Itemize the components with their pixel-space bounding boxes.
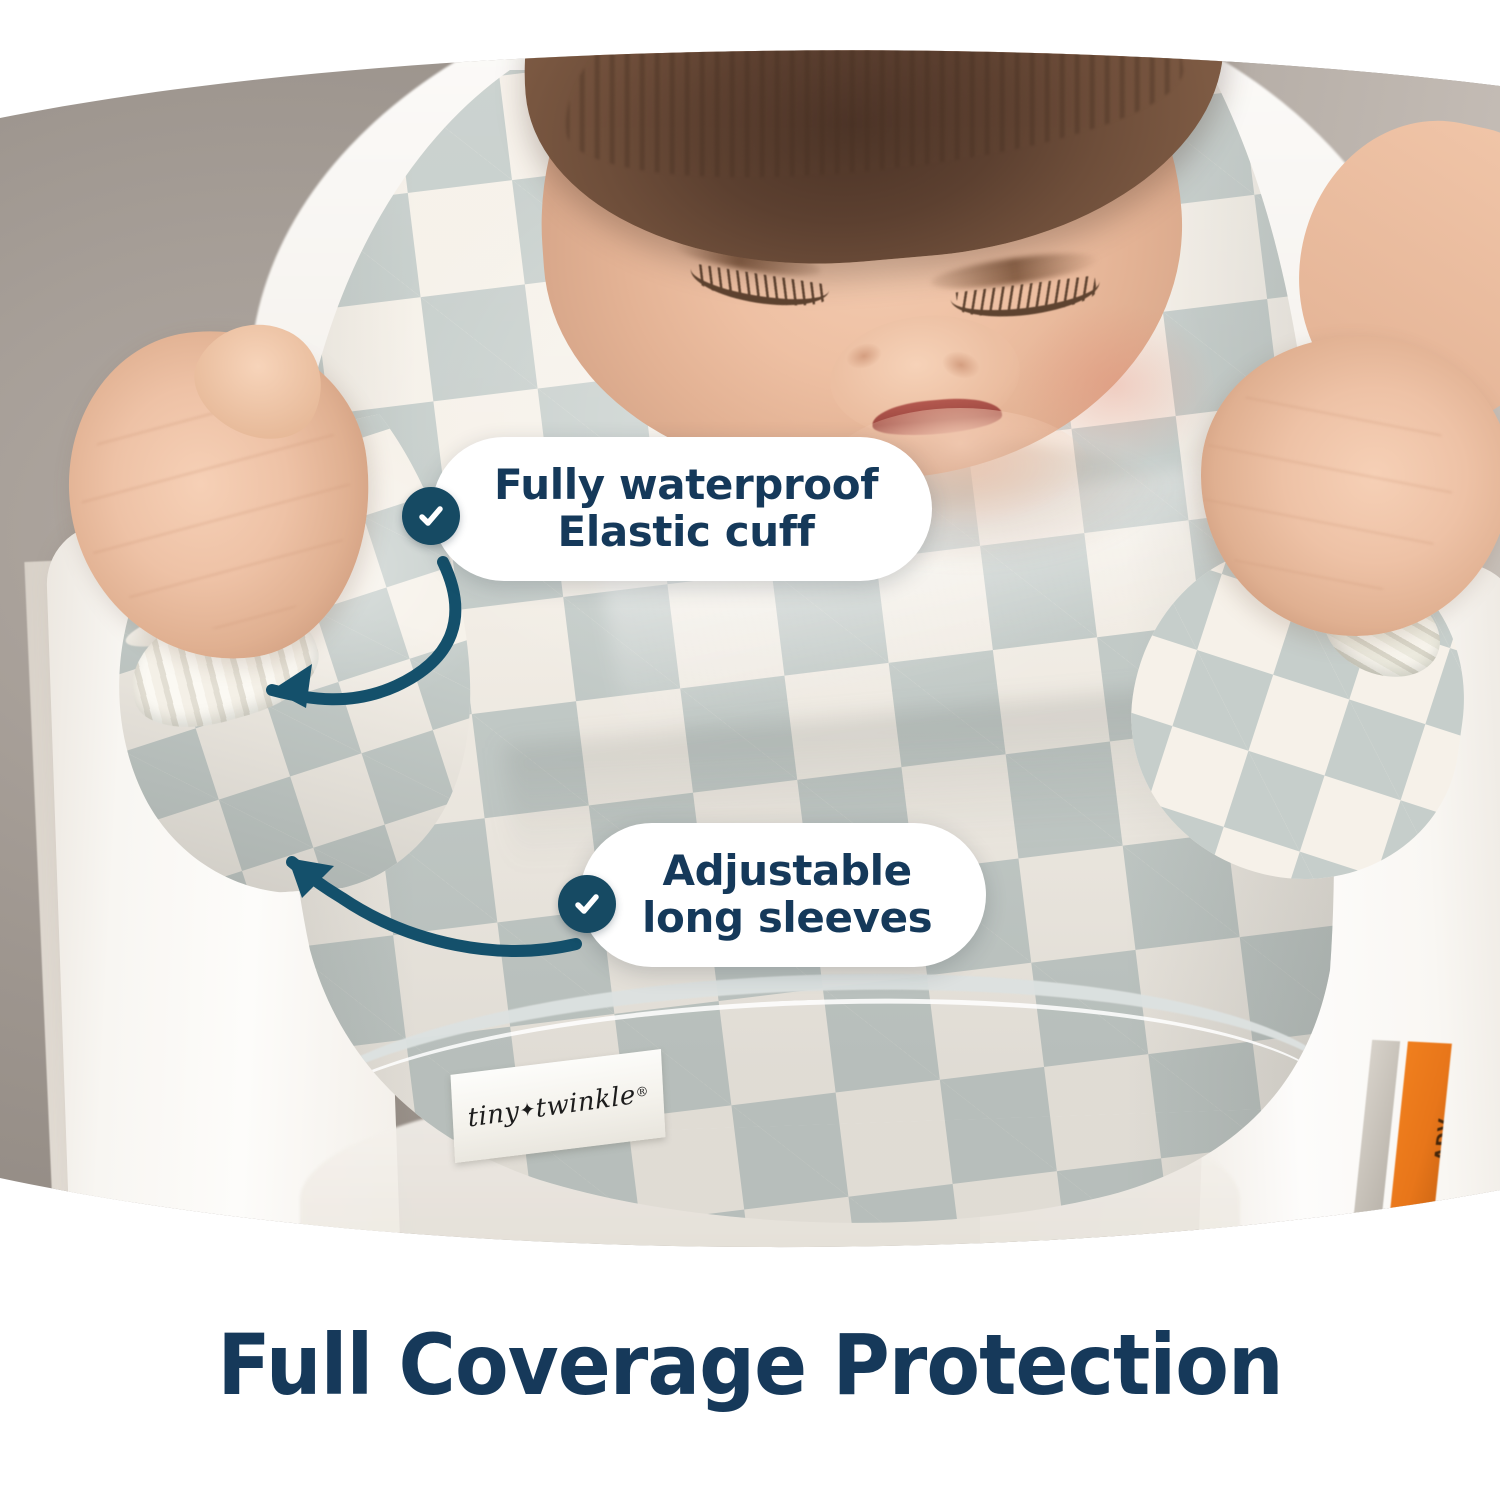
product-photo: tiny✦twinkle® ADV [0, 0, 1500, 1275]
check-circle-icon [558, 875, 616, 933]
headline-text: Full Coverage Protection [53, 1316, 1448, 1414]
brand-tag-text: tiny✦twinkle® [466, 1078, 649, 1133]
callout-adjustable-long-sleeves[interactable]: Adjustable long sleeves [580, 823, 986, 967]
check-circle-icon [402, 487, 460, 545]
star-icon: ✦ [518, 1098, 536, 1122]
callout-line-1: Adjustable [663, 847, 912, 894]
callout-pill: Fully waterproof Elastic cuff [432, 437, 932, 581]
callout-pill: Adjustable long sleeves [580, 823, 986, 967]
callout-line-1: Fully waterproof [494, 461, 878, 508]
callout-line-2: long sleeves [642, 894, 932, 941]
callout-line-2: Elastic cuff [558, 508, 815, 555]
product-feature-image: tiny✦twinkle® ADV Fully waterproof E [0, 0, 1500, 1500]
callout-fully-waterproof-elastic-cuff[interactable]: Fully waterproof Elastic cuff [432, 437, 932, 581]
